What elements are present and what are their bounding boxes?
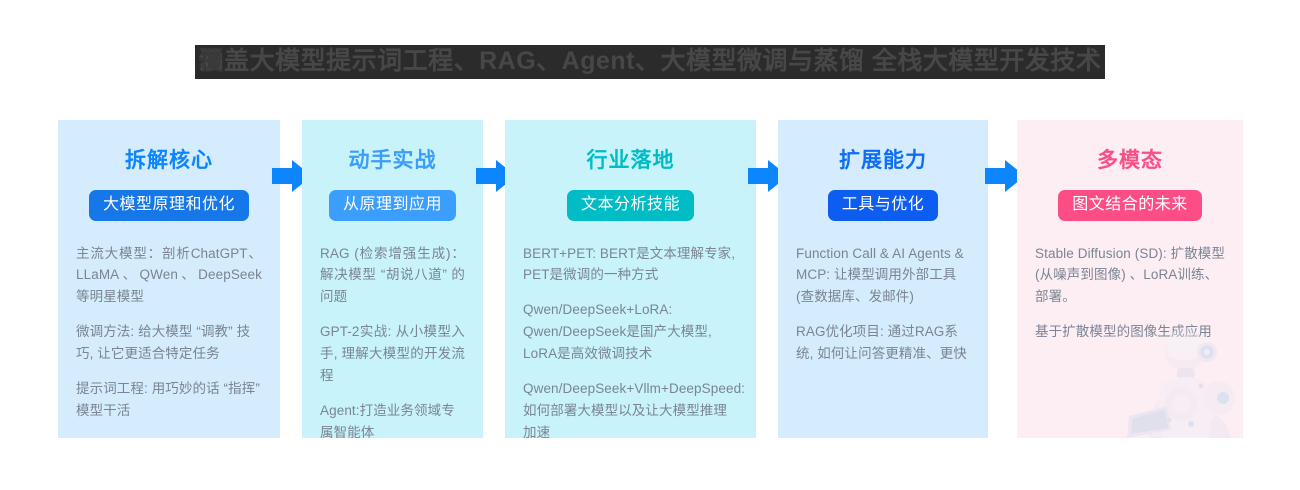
card-body-list: Function Call & AI Agents & MCP: 让模型调用外部… [796,243,970,365]
card-body-item: Qwen/DeepSeek+Vllm+DeepSpeed: 如何部署大模型以及让… [523,378,738,438]
badge-row: 工具与优化 [796,190,970,221]
card-badge[interactable]: 工具与优化 [828,190,939,221]
card-body-list: RAG (检索增强生成)：解决模型 “胡说八道” 的问题 GPT-2实战: 从小… [320,243,465,438]
card-title: 扩展能力 [796,150,970,171]
card-multimodal[interactable]: 多模态 图文结合的未来 Stable Diffusion (SD): 扩散模型 … [1017,120,1243,438]
badge-row: 从原理到应用 [320,190,465,221]
card-title: 行业落地 [523,150,738,171]
card-body-item: Function Call & AI Agents & MCP: 让模型调用外部… [796,243,970,309]
card-dismantle-core[interactable]: 拆解核心 大模型原理和优化 主流大模型：剖析ChatGPT、LLaMA、QWen… [58,120,280,438]
course-flow: 拆解核心 大模型原理和优化 主流大模型：剖析ChatGPT、LLaMA、QWen… [0,120,1300,440]
card-title: 多模态 [1035,150,1225,171]
card-body-list: BERT+PET: BERT是文本理解专家, PET是微调的一种方式 Qwen/… [523,243,738,438]
card-body-item: GPT-2实战: 从小模型入手, 理解大模型的开发流程 [320,321,465,387]
card-industry-implementation[interactable]: 行业落地 文本分析技能 BERT+PET: BERT是文本理解专家, PET是微… [505,120,756,438]
page-title-band: 覆 涵盖大模型提示词工程、RAG、Agent、大模型微调与蒸馏 全栈大模型开发技… [195,45,1106,79]
card-badge[interactable]: 文本分析技能 [567,190,694,221]
card-badge[interactable]: 大模型原理和优化 [89,190,249,221]
card-body-item: Stable Diffusion (SD): 扩散模型 (从噪声到图像) 、Lo… [1035,243,1225,309]
card-body-item: 微调方法: 给大模型 “调教” 技巧, 让它更适合特定任务 [76,321,262,365]
card-body-list: Stable Diffusion (SD): 扩散模型 (从噪声到图像) 、Lo… [1035,243,1225,343]
card-body-item: BERT+PET: BERT是文本理解专家, PET是微调的一种方式 [523,243,738,287]
card-extended-capability[interactable]: 扩展能力 工具与优化 Function Call & AI Agents & M… [778,120,988,438]
card-title: 动手实战 [320,150,465,171]
card-title: 拆解核心 [76,150,262,171]
card-body-item: 提示词工程: 用巧妙的话 “指挥” 模型干活 [76,378,262,422]
card-body-item: 主流大模型：剖析ChatGPT、LLaMA、QWen、DeepSeek等明星模型 [76,243,262,309]
card-body-item: 基于扩散模型的图像生成应用 [1035,321,1225,343]
card-badge[interactable]: 图文结合的未来 [1058,190,1202,221]
card-body-list: 主流大模型：剖析ChatGPT、LLaMA、QWen、DeepSeek等明星模型… [76,243,262,422]
card-body-item: Agent:打造业务领域专属智能体 [320,400,465,438]
badge-row: 文本分析技能 [523,190,738,221]
card-body-item: Qwen/DeepSeek+LoRA: Qwen/DeepSeek是国产大模型,… [523,299,738,365]
card-hands-on-practice[interactable]: 动手实战 从原理到应用 RAG (检索增强生成)：解决模型 “胡说八道” 的问题… [302,120,483,438]
page-title-wrapper: 覆 涵盖大模型提示词工程、RAG、Agent、大模型微调与蒸馏 全栈大模型开发技… [0,42,1300,82]
card-body-item: RAG优化项目: 通过RAG系统, 如何让问答更精准、更快 [796,321,970,365]
badge-row: 大模型原理和优化 [76,190,262,221]
page-title-overlay-glyph: 覆 [199,48,225,75]
card-badge[interactable]: 从原理到应用 [329,190,456,221]
page-title: 涵盖大模型提示词工程、RAG、Agent、大模型微调与蒸馏 全栈大模型开发技术 [199,47,1102,75]
badge-row: 图文结合的未来 [1035,190,1225,221]
card-body-item: RAG (检索增强生成)：解决模型 “胡说八道” 的问题 [320,243,465,309]
